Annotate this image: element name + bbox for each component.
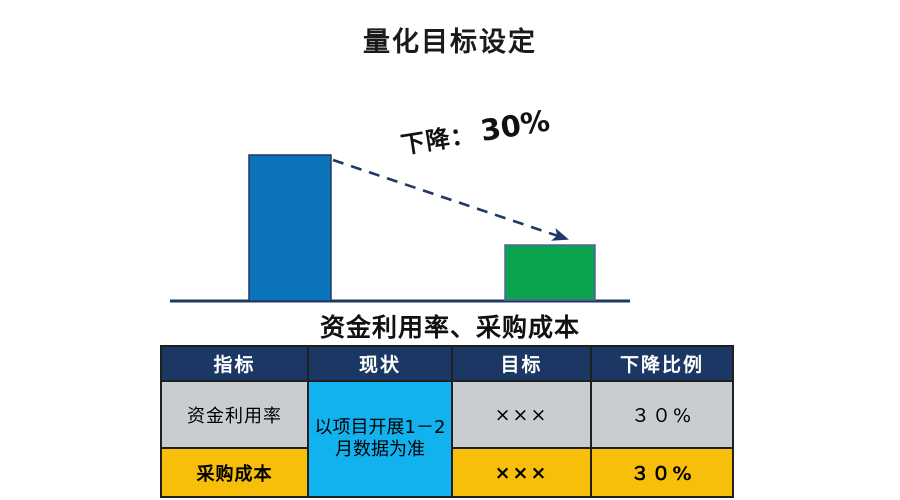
metrics-table: 指标 现状 目标 下降比例 资金利用率 以项目开展1－2月数据为准 ××× ３０… (160, 345, 734, 498)
cell-current-merged: 以项目开展1－2月数据为准 (308, 381, 452, 497)
cell-target-row2: ××× (452, 448, 591, 497)
cell-indicator-row1: 资金利用率 (161, 381, 308, 448)
bar-chart: 下降：30% 资金利用率、采购成本 (0, 0, 900, 345)
chart-canvas (0, 0, 900, 345)
decline-arrow-icon (333, 160, 567, 239)
table-header-ratio: 下降比例 (591, 346, 733, 381)
chart-caption: 资金利用率、采购成本 (0, 308, 900, 344)
bar-target-value (505, 245, 595, 300)
cell-target-row1: ××× (452, 381, 591, 448)
table-header-row: 指标 现状 目标 下降比例 (161, 346, 733, 381)
cell-ratio-row2: ３０% (591, 448, 733, 497)
table-row: 资金利用率 以项目开展1－2月数据为准 ××× ３０% (161, 381, 733, 448)
bar-current-value (249, 155, 331, 301)
table-header-current: 现状 (308, 346, 452, 381)
table-header-target: 目标 (452, 346, 591, 381)
cell-ratio-row1: ３０% (591, 381, 733, 448)
cell-indicator-row2: 采购成本 (161, 448, 308, 497)
table-header-indicator: 指标 (161, 346, 308, 381)
